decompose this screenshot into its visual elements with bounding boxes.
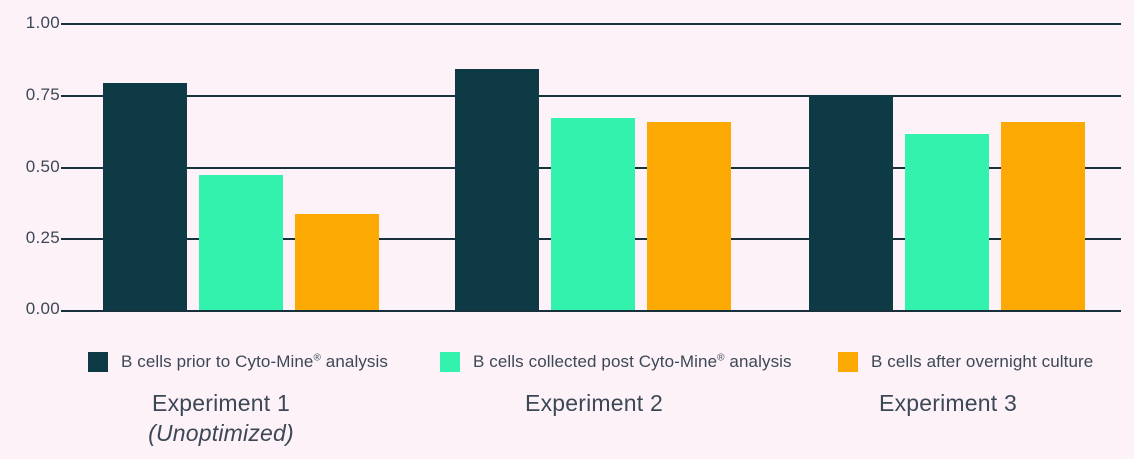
bar-3-series-2 [905,134,989,311]
bar-3-series-3 [1001,122,1085,310]
bar-1-series-1 [103,83,187,310]
bar-2-series-3 [647,122,731,310]
plot-area [61,23,1121,310]
y-tick-label: 0.50 [0,157,60,177]
bar-1-series-3 [295,214,379,310]
bar-3-series-1 [809,95,893,310]
bar-2-series-2 [551,118,635,310]
legend-item-series-1[interactable]: B cells prior to Cyto-Mine® analysis [88,348,388,376]
legend: B cells prior to Cyto-Mine® analysis B c… [61,348,1121,376]
legend-label: B cells collected post Cyto-Mine® analys… [473,352,792,372]
y-tick-label: 1.00 [0,13,60,33]
legend-item-series-2[interactable]: B cells collected post Cyto-Mine® analys… [440,348,792,376]
legend-swatch-icon [88,352,108,372]
x-axis-label-experiment-2: Experiment 2 [434,388,754,418]
legend-item-series-3[interactable]: B cells after overnight culture [838,348,1093,376]
bar-1-series-2 [199,175,283,310]
legend-label: B cells prior to Cyto-Mine® analysis [121,352,388,372]
x-axis-label-text: Experiment 3 [879,390,1017,416]
x-axis-label-text: Experiment 2 [525,390,663,416]
bar-2-series-1 [455,69,539,310]
legend-swatch-icon [838,352,858,372]
x-axis-label-experiment-1: Experiment 1 (Unoptimized) [61,388,381,448]
y-tick-label: 0.75 [0,85,60,105]
bars-layer [61,23,1121,310]
legend-label: B cells after overnight culture [871,352,1093,372]
gridline-0-00 [61,310,1121,312]
x-axis-label-text: Experiment 1 [152,390,290,416]
legend-swatch-icon [440,352,460,372]
y-tick-label: 0.00 [0,299,60,319]
y-tick-label: 0.25 [0,228,60,248]
bar-chart: 1.00 0.75 0.50 0.25 0.00 B cells prior t… [0,0,1134,459]
x-axis-label-experiment-3: Experiment 3 [788,388,1108,418]
x-axis-sublabel-text: (Unoptimized) [61,418,381,448]
